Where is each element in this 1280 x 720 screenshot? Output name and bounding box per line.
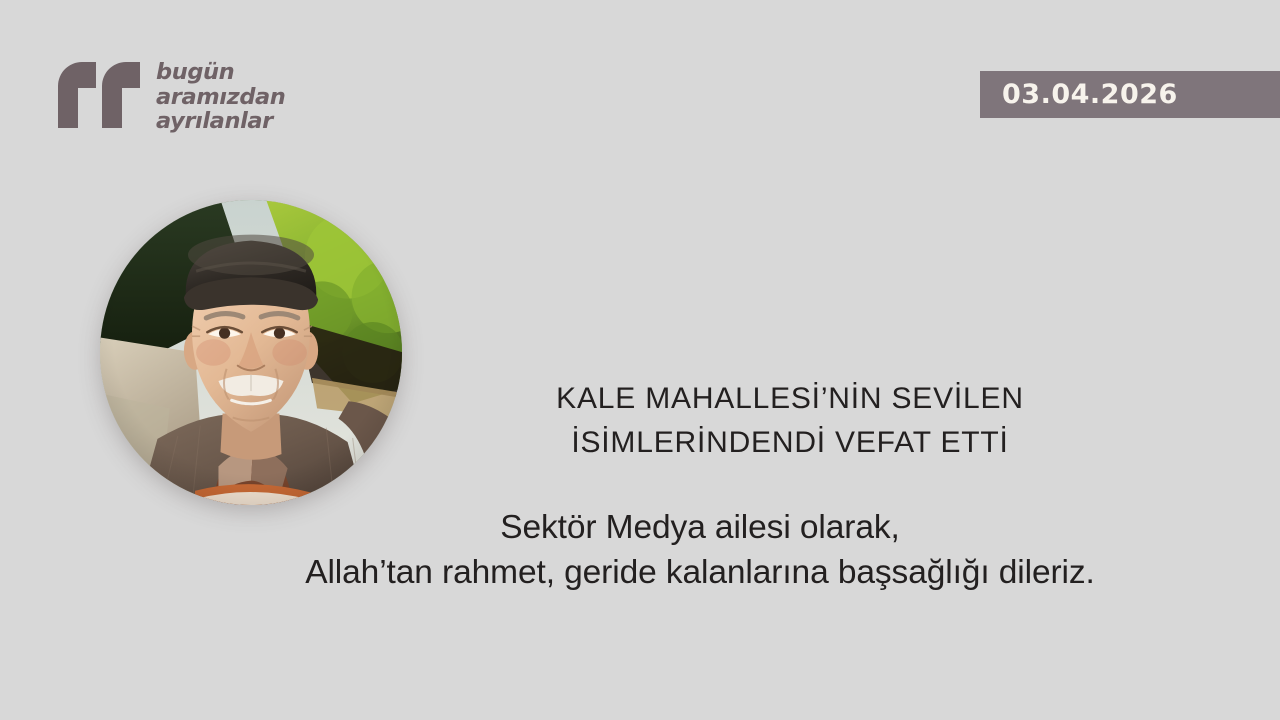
headline: KALE MAHALLESİ’NİN SEVİLEN İSİMLERİNDEND… — [420, 377, 1160, 465]
brand-logo: bugün aramızdan ayrılanlar — [52, 52, 285, 139]
brand-wordmark-line-2: aramızdan — [156, 85, 285, 110]
double-quote-icon — [52, 56, 140, 139]
portrait-photo — [100, 200, 402, 505]
brand-wordmark: bugün aramızdan ayrılanlar — [156, 52, 285, 134]
headline-line-1: KALE MAHALLESİ’NİN SEVİLEN — [420, 377, 1160, 421]
headline-line-2: İSİMLERİNDENDİ VEFAT ETTİ — [420, 421, 1160, 465]
memorial-card: bugün aramızdan ayrılanlar 03.04.2026 — [0, 0, 1280, 720]
date-badge: 03.04.2026 — [980, 71, 1280, 118]
date-badge-text: 03.04.2026 — [980, 79, 1178, 110]
condolence-line-2: Allah’tan rahmet, geride kalanlarına baş… — [120, 550, 1280, 595]
condolence-line-1: Sektör Medya ailesi olarak, — [120, 505, 1280, 550]
condolence-message: Sektör Medya ailesi olarak, Allah’tan ra… — [120, 505, 1280, 595]
brand-wordmark-line-3: ayrılanlar — [156, 109, 285, 134]
brand-wordmark-line-1: bugün — [156, 60, 285, 85]
